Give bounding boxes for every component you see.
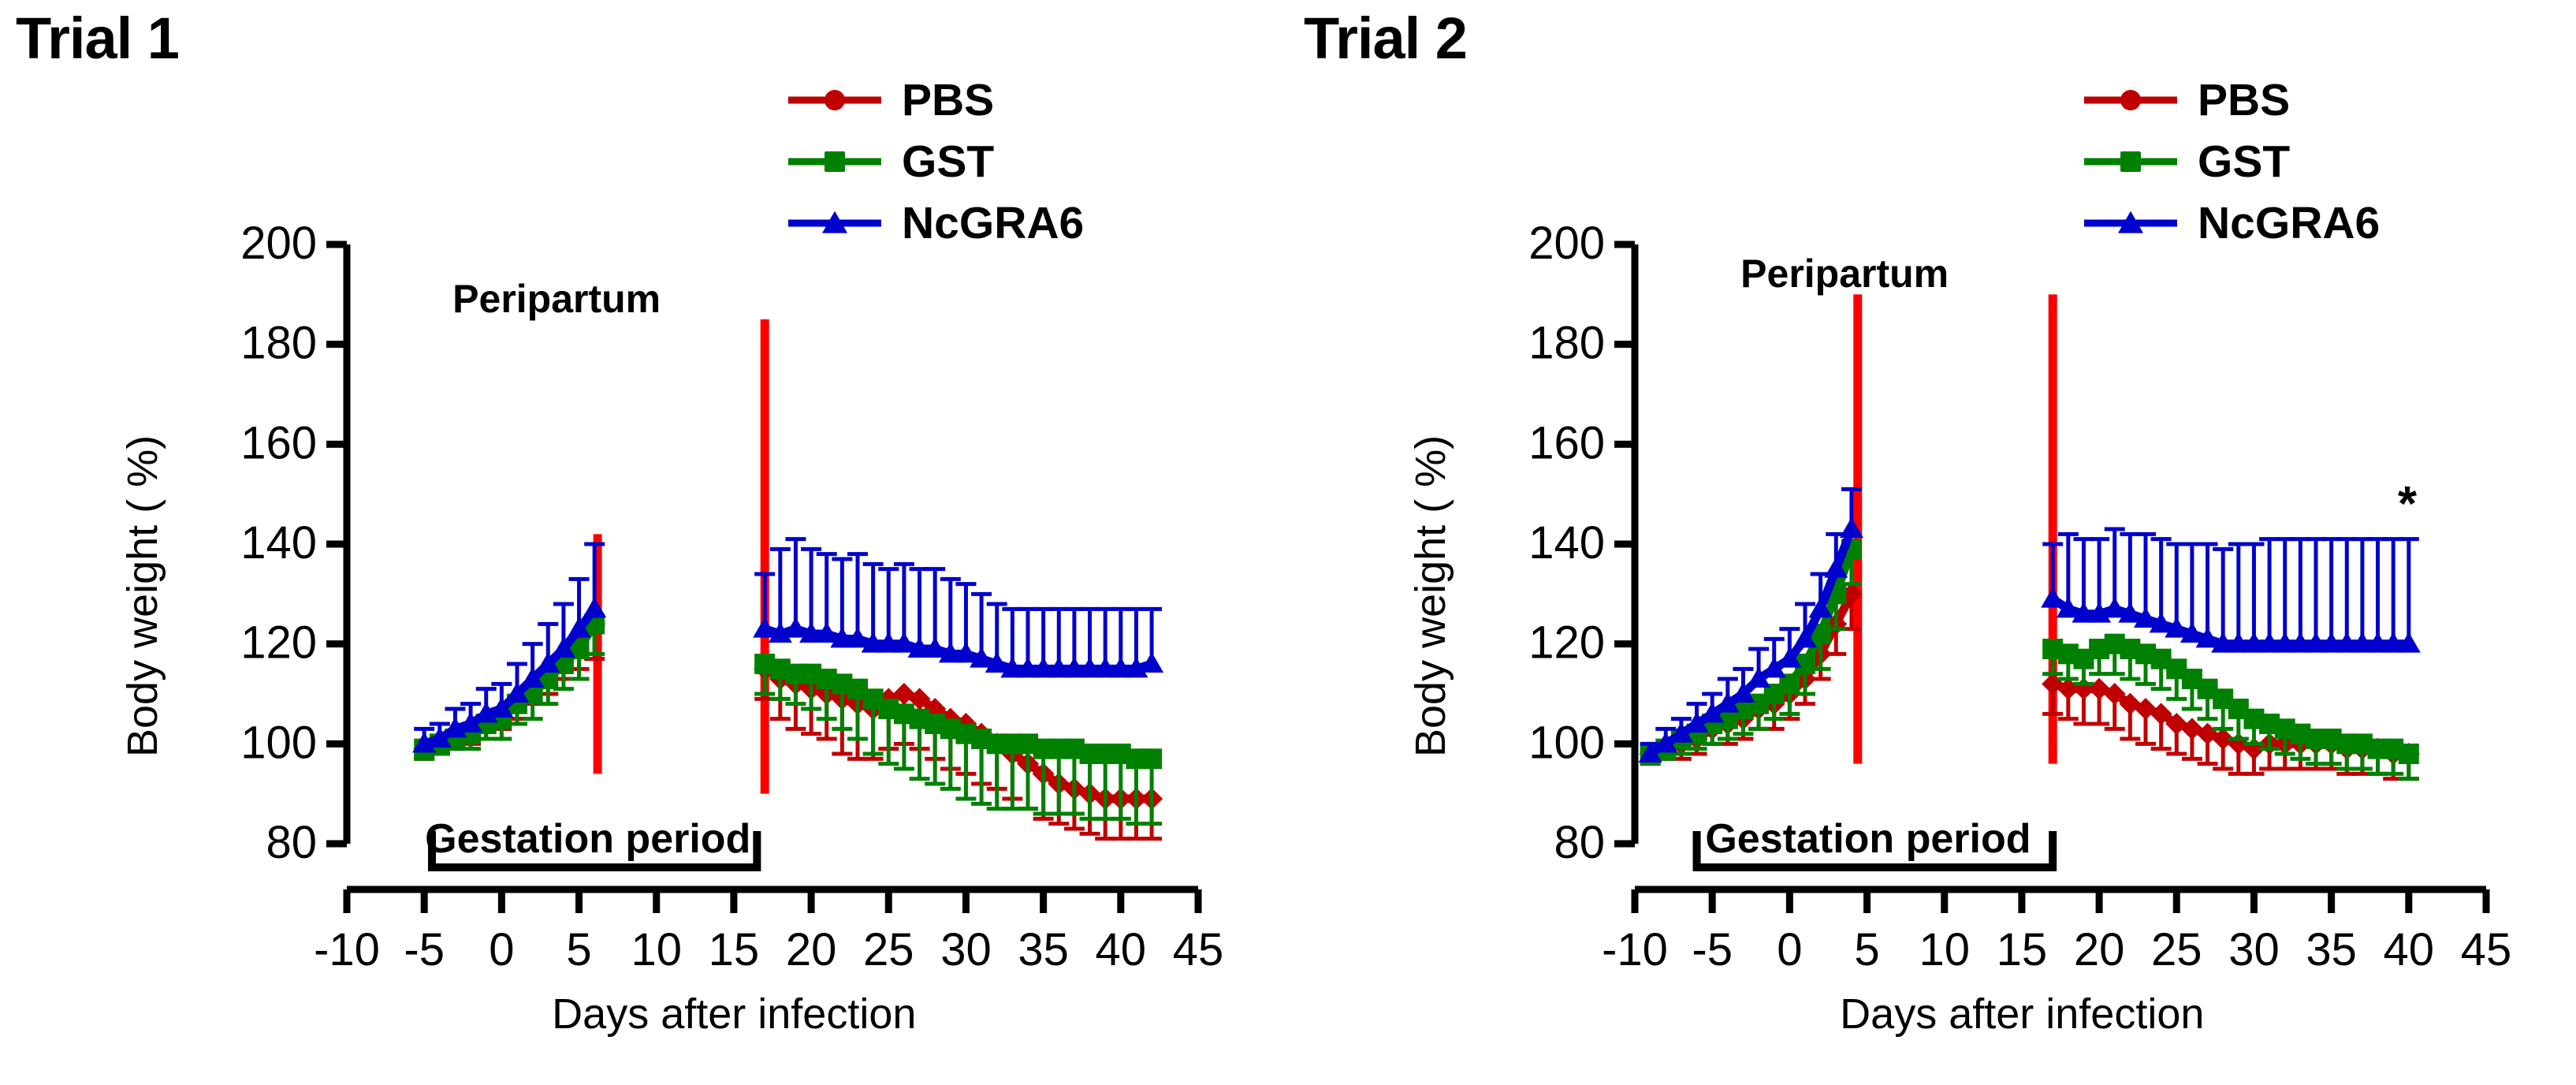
x-tick-label: -5 xyxy=(404,924,445,975)
x-tick-label: 45 xyxy=(2461,924,2512,975)
legend-trial1: PBSGSTNcGRA6 xyxy=(788,69,1084,254)
x-tick-label: 5 xyxy=(566,924,591,975)
x-tick-label: 25 xyxy=(863,924,914,975)
plot-canvas-trial1: 80100120140160180200-10-5051015202530354… xyxy=(0,0,1288,1085)
data-marker xyxy=(583,597,606,617)
gestation-period-label-trial1: Gestation period xyxy=(425,815,750,863)
legend-marker-square-icon xyxy=(2120,151,2141,172)
x-tick-label: 5 xyxy=(1854,924,1879,975)
figure-root: Trial 1 80100120140160180200-10-50510152… xyxy=(0,0,2576,1085)
legend-label: NcGRA6 xyxy=(902,197,1084,249)
x-tick-label: 20 xyxy=(786,924,837,975)
legend-marker-circle-icon xyxy=(825,90,845,110)
y-tick-label: 160 xyxy=(240,417,317,468)
x-tick-label: 35 xyxy=(1018,924,1069,975)
x-tick-label: 0 xyxy=(1777,924,1802,975)
y-tick-label: 80 xyxy=(1554,817,1605,868)
x-tick-label: 45 xyxy=(1173,924,1224,975)
y-axis-title-trial1: Body weight ( %) xyxy=(118,435,167,757)
legend-label: PBS xyxy=(2198,74,2290,126)
legend-marker-circle-icon xyxy=(2120,90,2141,110)
y-tick-label: 120 xyxy=(240,617,317,669)
legend-label: NcGRA6 xyxy=(2198,197,2380,249)
data-marker xyxy=(1141,748,1162,769)
legend-item-gst: GST xyxy=(2084,131,2380,192)
legend-label: GST xyxy=(2198,136,2290,188)
legend-item-gst: GST xyxy=(788,131,1084,192)
legend-key-ncgra6-icon xyxy=(788,207,881,239)
x-tick-label: 30 xyxy=(940,924,992,975)
y-tick-label: 100 xyxy=(1528,717,1605,768)
y-tick-label: 200 xyxy=(240,218,317,269)
y-tick-label: 180 xyxy=(1528,318,1605,369)
x-tick-label: -10 xyxy=(1602,924,1668,975)
legend-label: GST xyxy=(902,136,994,188)
legend-key-ncgra6-icon xyxy=(2084,207,2177,239)
y-tick-label: 140 xyxy=(240,517,317,569)
gestation-period-label-trial2: Gestation period xyxy=(1705,815,2031,863)
y-tick-label: 80 xyxy=(266,817,317,868)
series-ncgra6 xyxy=(2041,529,2421,653)
legend-key-pbs-icon xyxy=(788,84,881,116)
legend-key-gst-icon xyxy=(788,146,881,177)
x-tick-label: 30 xyxy=(2228,924,2280,975)
x-tick-label: 0 xyxy=(489,924,514,975)
x-tick-label: 10 xyxy=(1919,924,1970,975)
x-tick-label: 40 xyxy=(1096,924,1147,975)
y-tick-label: 180 xyxy=(240,318,317,369)
data-marker xyxy=(2041,587,2064,608)
x-tick-label: -5 xyxy=(1692,924,1733,975)
panel-trial2: Trial 2 80100120140160180200-10-50510152… xyxy=(1288,0,2576,1085)
legend-key-gst-icon xyxy=(2084,146,2177,177)
significance-asterisk-trial2: * xyxy=(2398,480,2417,529)
legend-trial2: PBSGSTNcGRA6 xyxy=(2084,69,2380,254)
series-ncgra6 xyxy=(753,539,1163,678)
legend-marker-tri-icon xyxy=(2118,211,2143,233)
x-axis-title-trial1: Days after infection xyxy=(552,990,916,1038)
legend-item-ncgra6: NcGRA6 xyxy=(788,192,1084,254)
legend-marker-tri-icon xyxy=(822,211,847,233)
x-tick-label: 15 xyxy=(709,924,760,975)
y-tick-label: 200 xyxy=(1528,218,1605,269)
panel-trial1: Trial 1 80100120140160180200-10-50510152… xyxy=(0,0,1288,1085)
legend-marker-square-icon xyxy=(825,151,845,172)
legend-item-ncgra6: NcGRA6 xyxy=(2084,192,2380,254)
peripartum-label-trial2: Peripartum xyxy=(1740,251,1949,296)
x-tick-label: 10 xyxy=(631,924,682,975)
x-axis-title-trial2: Days after infection xyxy=(1840,990,2204,1038)
legend-item-pbs: PBS xyxy=(2084,69,2380,131)
legend-label: PBS xyxy=(902,74,994,126)
y-tick-label: 160 xyxy=(1528,417,1605,468)
legend-item-pbs: PBS xyxy=(788,69,1084,131)
y-tick-label: 120 xyxy=(1528,617,1605,669)
x-tick-label: 40 xyxy=(2384,924,2435,975)
data-marker xyxy=(2399,744,2419,764)
plot-canvas-trial2: 80100120140160180200-10-5051015202530354… xyxy=(1288,0,2576,1085)
x-tick-label: 15 xyxy=(1997,924,2048,975)
y-axis-title-trial2: Body weight ( %) xyxy=(1406,435,1455,757)
x-tick-label: 35 xyxy=(2306,924,2357,975)
x-tick-label: -10 xyxy=(314,924,380,975)
y-tick-label: 100 xyxy=(240,717,317,768)
x-tick-label: 25 xyxy=(2151,924,2202,975)
y-tick-label: 140 xyxy=(1528,517,1605,569)
x-tick-label: 20 xyxy=(2074,924,2125,975)
peripartum-label-trial1: Peripartum xyxy=(452,276,661,322)
legend-key-pbs-icon xyxy=(2084,84,2177,116)
